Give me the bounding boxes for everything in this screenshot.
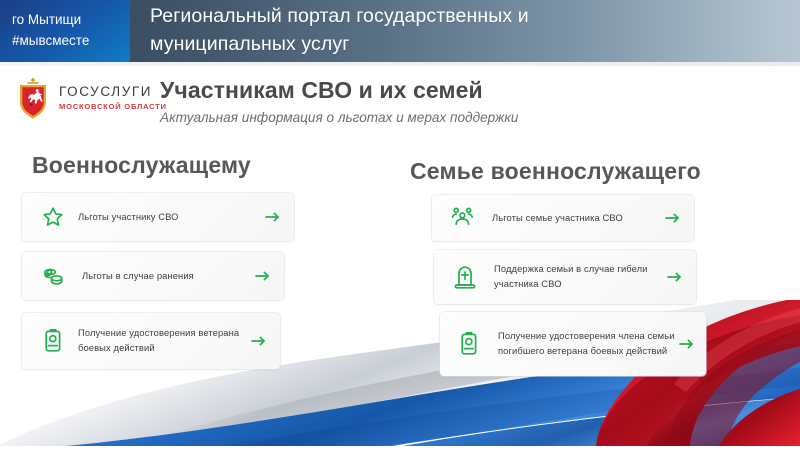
ruble-coins-icon: [36, 264, 70, 288]
slide-canvas: го Мытищи #мывсместе Региональный портал…: [0, 0, 800, 450]
arrow-right-icon[interactable]: [252, 270, 272, 282]
service-card-label: Получение удостоверения ветерана боевых …: [70, 326, 248, 355]
arrow-right-icon[interactable]: [676, 338, 696, 350]
column-heading-servicemember: Военнослужащему: [32, 152, 251, 179]
family-group-icon: [446, 206, 480, 230]
service-card-benefits-injury[interactable]: Льготы в случае ранения: [22, 252, 284, 300]
service-card-label: Льготы семье участника СВО: [480, 211, 662, 226]
header-bar: го Мытищи #мывсместе Региональный портал…: [0, 0, 800, 62]
column-heading-family: Семье военнослужащего: [410, 158, 701, 185]
service-card-benefits-participant[interactable]: Льготы участнику СВО: [22, 193, 294, 241]
id-certificate-icon: [36, 328, 70, 354]
service-card-family-member-certificate[interactable]: Получение удостоверения члена семьи поги…: [440, 312, 706, 376]
logo-region-label: МОСКОВСКОЙ ОБЛАСТИ: [59, 103, 167, 111]
page-subtitle: Актуальная информация о льготах и мерах …: [160, 109, 518, 127]
id-certificate-icon: [452, 331, 486, 357]
logo-gosuslugi-label: ГОСУСЛУГИ: [59, 85, 167, 100]
portal-title-line1: Региональный портал государственных и: [150, 3, 800, 31]
header-underline: [0, 62, 800, 66]
moscow-oblast-coat-of-arms-icon: [16, 76, 50, 120]
gosuslugi-logo[interactable]: ГОСУСЛУГИ МОСКОВСКОЙ ОБЛАСТИ: [16, 76, 167, 120]
page-title: Участникам СВО и их семей: [160, 76, 518, 105]
portal-title: Региональный портал государственных и му…: [130, 0, 800, 62]
service-card-label: Льготы в случае ранения: [70, 269, 252, 284]
arrow-right-icon[interactable]: [664, 271, 684, 283]
city-badge-hashtag: #мывсместе: [12, 31, 130, 52]
service-card-family-benefits[interactable]: Льготы семье участника СВО: [432, 195, 694, 241]
service-card-label: Получение удостоверения члена семьи поги…: [486, 329, 676, 358]
memorial-gravestone-icon: [448, 264, 482, 290]
service-card-family-death-support[interactable]: Поддержка семьи в случае гибели участник…: [434, 250, 696, 304]
page-heading-block: Участникам СВО и их семей Актуальная инф…: [160, 76, 518, 126]
arrow-right-icon[interactable]: [248, 335, 268, 347]
arrow-right-icon[interactable]: [262, 211, 282, 223]
portal-title-line2: муниципальных услуг: [150, 31, 800, 59]
city-badge: го Мытищи #мывсместе: [0, 0, 130, 62]
logo-text: ГОСУСЛУГИ МОСКОВСКОЙ ОБЛАСТИ: [59, 85, 167, 111]
city-badge-line1: го Мытищи: [12, 10, 130, 31]
service-card-veteran-certificate[interactable]: Получение удостоверения ветерана боевых …: [22, 313, 280, 369]
arrow-right-icon[interactable]: [662, 212, 682, 224]
service-card-label: Льготы участнику СВО: [70, 210, 262, 225]
bottom-edge-strip: [0, 446, 800, 450]
service-card-label: Поддержка семьи в случае гибели участник…: [482, 262, 664, 291]
star-outline-icon: [36, 205, 70, 229]
